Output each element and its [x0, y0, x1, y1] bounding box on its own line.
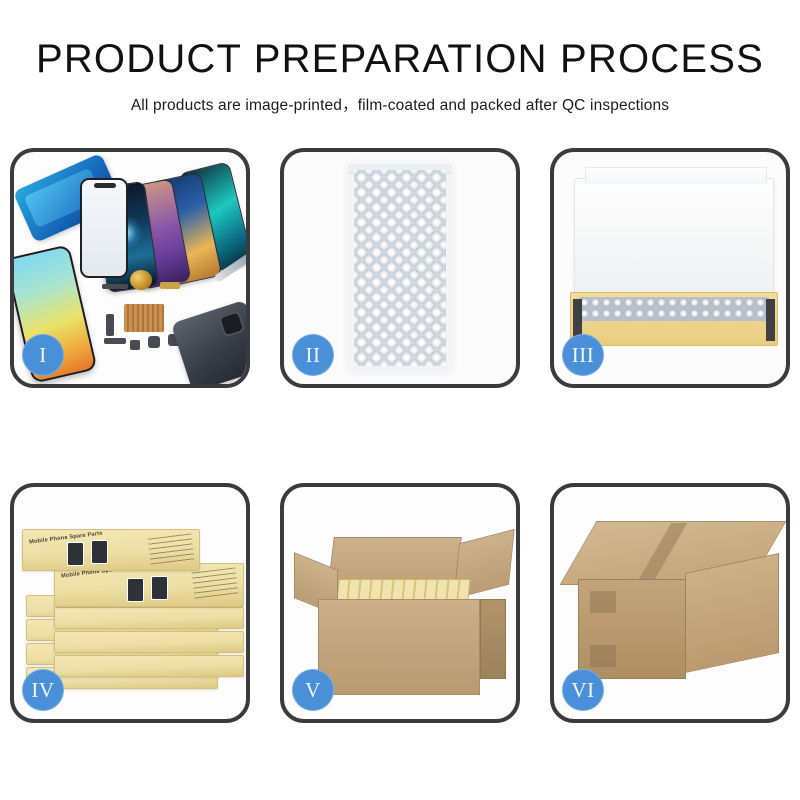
part-connector-icon [160, 282, 180, 289]
carton-front-face-icon [318, 599, 480, 695]
panel-step-4[interactable]: Mobile Phone Spare Parts Mobile Phone Sp… [10, 483, 250, 723]
box-screen-thumb-a [67, 542, 84, 566]
sealed-carton-right-face-icon [685, 553, 779, 673]
carton-handle-tab-bottom-icon [590, 645, 616, 667]
box-spec-lines-right [192, 567, 239, 598]
process-steps-grid: I II [10, 148, 790, 723]
step-numeral-3: III [572, 343, 594, 368]
panel-step-1[interactable]: I [10, 148, 250, 388]
kraft-box-right-3 [54, 631, 244, 653]
panel-step-3[interactable]: III [550, 148, 790, 388]
tray-end-right-icon [766, 299, 775, 341]
carton-right-face-icon [480, 599, 506, 679]
step-numeral-1: I [39, 343, 47, 368]
step-badge-1: I [22, 334, 64, 376]
box-spec-lines-left [148, 533, 195, 564]
box-screen-thumb-b [91, 540, 108, 564]
step-numeral-2: II [306, 343, 321, 368]
page-title: PRODUCT PREPARATION PROCESS [0, 38, 800, 80]
step-badge-4: IV [22, 669, 64, 711]
step-badge-6: VI [562, 669, 604, 711]
step-badge-5: V [292, 669, 334, 711]
kraft-box-right-2 [54, 607, 244, 629]
carton-handle-tab-top-icon [590, 591, 616, 613]
panel-step-2[interactable]: II [280, 148, 520, 388]
tempered-glass-icon [80, 178, 128, 278]
box-screen-thumb-c [127, 578, 144, 602]
product-preparation-process-page: PRODUCT PREPARATION PROCESS All products… [0, 0, 800, 800]
step-numeral-5: V [305, 678, 321, 703]
step-badge-2: II [292, 334, 334, 376]
flex-grid-icon [124, 304, 164, 332]
bubble-wrap-pouch-icon [348, 164, 452, 372]
page-header: PRODUCT PREPARATION PROCESS All products… [0, 0, 800, 115]
bubble-pattern-icon [354, 170, 446, 366]
copper-coil-icon [130, 270, 152, 290]
step-numeral-4: IV [31, 678, 54, 703]
kraft-box-right-4 [54, 655, 244, 677]
part-button-icon [130, 340, 140, 350]
spare-parts-group [102, 268, 246, 380]
mailer-box-tray-icon [570, 292, 778, 346]
tray-bubble-contents-icon [579, 297, 769, 321]
step-badge-3: III [562, 334, 604, 376]
phone-backplate-icon [171, 300, 246, 384]
part-flex-cable-icon [104, 338, 126, 344]
part-sim-tray-icon [106, 314, 114, 336]
kraft-box-top-left: Mobile Phone Spare Parts [22, 529, 200, 571]
step-numeral-6: VI [571, 678, 594, 703]
panel-step-5[interactable]: V [280, 483, 520, 723]
mailer-box-lid-icon [574, 178, 774, 296]
part-camera-icon [148, 336, 160, 348]
part-strip-icon [102, 284, 128, 289]
panel-step-6[interactable]: VI [550, 483, 790, 723]
box-screen-thumb-d [151, 576, 168, 600]
page-subtitle: All products are image-printed，film-coat… [0, 93, 800, 115]
